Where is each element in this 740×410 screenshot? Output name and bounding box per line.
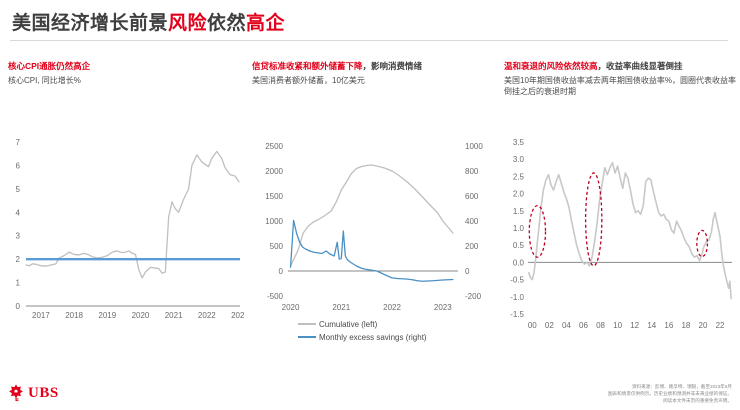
chart-3-heading: 温和衰退的风险依然较高，收益率曲线显著倒挂 — [504, 60, 736, 72]
text-run: 美国经济增长前景 — [12, 13, 168, 34]
source-line-2: 图表和情景仅供例示。历史业绩和预测并非未来业绩的保证。 — [608, 390, 732, 397]
axis-tick-label: 18 — [681, 321, 690, 330]
axis-tick-label: 1000 — [265, 217, 283, 226]
title-divider — [10, 40, 728, 41]
legend-label: Monthly excess savings (right) — [319, 333, 427, 342]
source-note: 资料来源：彭博、路孚特、瑞银，截至2023年6月 图表和情景仅供例示。历史业绩和… — [608, 383, 732, 404]
axis-tick-label: 1.5 — [513, 207, 525, 216]
chart-2-subtitle: 美国消费者额外储蓄，10亿美元 — [252, 75, 496, 86]
axis-tick-label: 14 — [647, 321, 656, 330]
axis-tick-label: 2023 — [231, 311, 244, 320]
data-series-line — [529, 163, 731, 299]
axis-tick-label: 0 — [465, 267, 470, 276]
axis-tick-label: 2.0 — [513, 190, 525, 199]
axis-tick-label: 2021 — [165, 311, 183, 320]
axis-tick-label: 3.5 — [513, 138, 525, 147]
axis-tick-label: -1.0 — [510, 293, 524, 302]
axis-tick-label: 2022 — [198, 311, 216, 320]
axis-tick-label: 2019 — [98, 311, 116, 320]
column-header-cpi: 核心CPI通胀仍然高企 核心CPI, 同比增长% — [8, 60, 244, 86]
axis-tick-label: 2000 — [265, 167, 283, 176]
chart-1-subtitle: 核心CPI, 同比增长% — [8, 75, 244, 86]
axis-tick-label: 2018 — [65, 311, 83, 320]
axis-tick-label: 6 — [16, 161, 21, 170]
axis-tick-label: 06 — [579, 321, 588, 330]
axis-tick-label: 04 — [562, 321, 571, 330]
ubs-logo: UBS — [8, 384, 59, 402]
axis-tick-label: 2500 — [265, 142, 283, 151]
axis-tick-label: 0 — [16, 302, 21, 311]
axis-tick-label: 200 — [465, 242, 479, 251]
chart-excess-savings: -50005001000150020002500-200020040060080… — [252, 128, 500, 358]
axis-tick-label: -500 — [267, 292, 284, 301]
axis-tick-label: 22 — [716, 321, 725, 330]
page-title: 美国经济增长前景风险依然高企 — [12, 8, 285, 35]
ubs-wordmark: UBS — [28, 385, 59, 402]
axis-tick-label: 1.0 — [513, 224, 525, 233]
axis-tick-label: 400 — [465, 217, 479, 226]
column-header-yieldcurve: 温和衰退的风险依然较高，收益率曲线显著倒挂 美国10年期国债收益率减去两年期国债… — [504, 60, 736, 97]
axis-tick-label: 7 — [16, 138, 21, 147]
chart-yield-curve: -1.5-1.0-0.50.00.51.01.52.02.53.03.50002… — [500, 128, 738, 353]
text-run: 高企 — [246, 13, 285, 34]
text-run: 核心CPI通胀仍然高企 — [8, 61, 90, 71]
slide: 美国经济增长前景风险依然高企 核心CPI通胀仍然高企 核心CPI, 同比增长% … — [0, 0, 740, 410]
axis-tick-label: 3.0 — [513, 155, 525, 164]
ubs-keys-icon — [8, 384, 24, 402]
axis-tick-label: 5 — [16, 185, 21, 194]
axis-tick-label: 2020 — [282, 303, 300, 312]
axis-tick-label: 0.5 — [513, 241, 525, 250]
data-series-line — [291, 165, 453, 266]
recession-marker-ellipse — [586, 173, 602, 266]
text-run: 温和衰退的风险依然较高 — [504, 61, 598, 71]
axis-tick-label: 10 — [613, 321, 622, 330]
chart-1-heading: 核心CPI通胀仍然高企 — [8, 60, 244, 72]
axis-tick-label: 2023 — [434, 303, 452, 312]
source-line-3: 阅读本文件末页的重要免责声明。 — [608, 397, 732, 404]
axis-tick-label: 4 — [16, 208, 21, 217]
text-run: ，收益率曲线显著倒挂 — [598, 61, 683, 71]
axis-tick-label: -0.5 — [510, 276, 524, 285]
axis-tick-label: 2021 — [332, 303, 350, 312]
axis-tick-label: 0 — [279, 267, 284, 276]
data-series-line — [291, 220, 453, 281]
axis-tick-label: 1 — [16, 279, 21, 288]
source-line-1: 资料来源：彭博、路孚特、瑞银，截至2023年6月 — [608, 383, 732, 390]
axis-tick-label: 2.5 — [513, 172, 525, 181]
axis-tick-label: 12 — [630, 321, 639, 330]
axis-tick-label: -1.5 — [510, 310, 524, 319]
axis-tick-label: 0.0 — [513, 258, 525, 267]
axis-tick-label: 16 — [664, 321, 673, 330]
axis-tick-label: 2022 — [383, 303, 401, 312]
chart-2-heading: 信贷标准收紧和额外储蓄下降，影响消费情绪 — [252, 60, 496, 72]
column-header-savings: 信贷标准收紧和额外储蓄下降，影响消费情绪 美国消费者额外储蓄，10亿美元 — [252, 60, 496, 86]
chart-3-subtitle: 美国10年期国债收益率减去两年期国债收益率%，圆圈代表收益率倒挂之后的衰退时期 — [504, 75, 736, 97]
axis-tick-label: 00 — [528, 321, 537, 330]
axis-tick-label: 500 — [270, 242, 284, 251]
text-run: 依然 — [207, 13, 246, 34]
text-run: 信贷标准收紧和额外储蓄下降 — [252, 61, 363, 71]
axis-tick-label: -200 — [465, 292, 482, 301]
axis-tick-label: 600 — [465, 192, 479, 201]
text-run: ，影响消费情绪 — [363, 61, 423, 71]
axis-tick-label: 3 — [16, 232, 21, 241]
axis-tick-label: 02 — [545, 321, 554, 330]
axis-tick-label: 1000 — [465, 142, 483, 151]
axis-tick-label: 2020 — [132, 311, 150, 320]
axis-tick-label: 2 — [16, 255, 21, 264]
axis-tick-label: 2017 — [32, 311, 50, 320]
axis-tick-label: 20 — [699, 321, 708, 330]
text-run: 风险 — [168, 13, 207, 34]
axis-tick-label: 08 — [596, 321, 605, 330]
legend-label: Cumulative (left) — [319, 320, 378, 329]
axis-tick-label: 800 — [465, 167, 479, 176]
chart-core-cpi: 012345672017201820192020202120222023 — [4, 128, 244, 338]
axis-tick-label: 1500 — [265, 192, 283, 201]
